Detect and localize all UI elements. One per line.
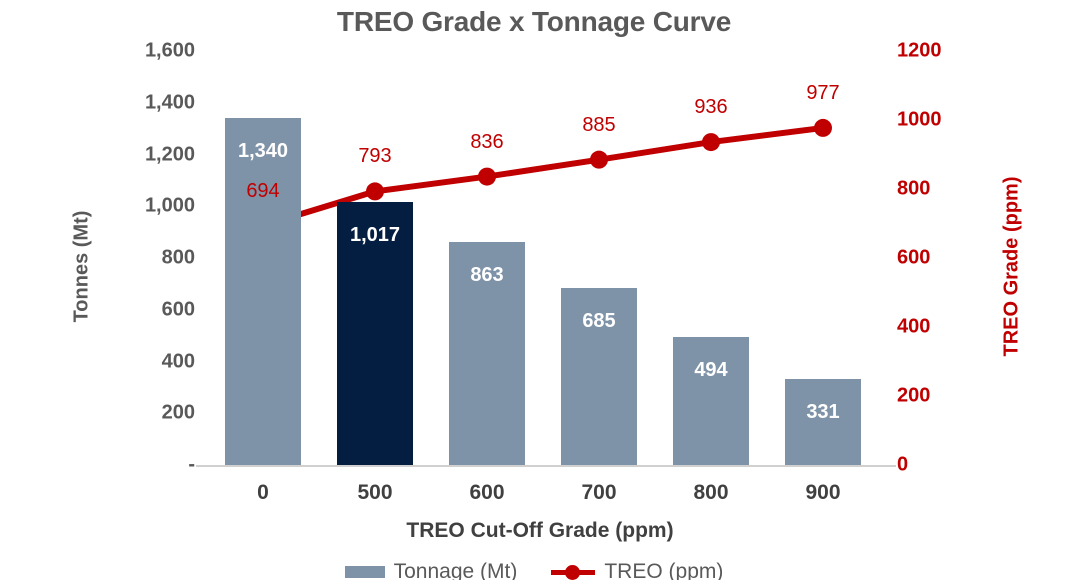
x-axis-tick-label: 800: [656, 481, 766, 505]
treo-grade-value-label: 936: [656, 96, 766, 119]
x-axis-tick-label: 500: [320, 481, 430, 505]
x-axis-tick-label: 0: [208, 481, 318, 505]
treo-grade-value-label: 793: [320, 145, 430, 168]
treo-grade-data-point[interactable]: [478, 168, 496, 186]
bar-value-label: 1,017: [320, 224, 430, 247]
bar-tonnage[interactable]: [673, 337, 749, 465]
legend-item[interactable]: TREO (ppm): [551, 560, 723, 580]
treo-grade-data-point[interactable]: [590, 151, 608, 169]
bar-tonnage[interactable]: [225, 118, 301, 465]
treo-grade-value-label: 977: [768, 82, 878, 105]
chart-container: TREO Grade x Tonnage Curve Tonnes (Mt) T…: [0, 0, 1068, 580]
legend-line-marker-icon: [551, 564, 595, 580]
bar-value-label: 494: [656, 359, 766, 382]
treo-grade-value-label: 694: [208, 180, 318, 203]
legend-item[interactable]: Tonnage (Mt): [345, 560, 518, 580]
bar-value-label: 331: [768, 401, 878, 424]
treo-grade-data-point[interactable]: [702, 133, 720, 151]
legend-bar-swatch-icon: [345, 566, 385, 578]
legend-label: TREO (ppm): [604, 560, 723, 580]
bar-value-label: 685: [544, 310, 654, 333]
x-axis-tick-label: 900: [768, 481, 878, 505]
legend-label: Tonnage (Mt): [394, 560, 518, 580]
treo-grade-data-point[interactable]: [366, 182, 384, 200]
treo-grade-value-label: 836: [432, 131, 542, 154]
treo-grade-data-point[interactable]: [814, 119, 832, 137]
x-axis-tick-label: 600: [432, 481, 542, 505]
bar-value-label: 863: [432, 264, 542, 287]
treo-grade-value-label: 885: [544, 114, 654, 137]
chart-legend: Tonnage (Mt)TREO (ppm): [0, 560, 1068, 580]
bar-value-label: 1,340: [208, 140, 318, 163]
x-axis-tick-label: 700: [544, 481, 654, 505]
